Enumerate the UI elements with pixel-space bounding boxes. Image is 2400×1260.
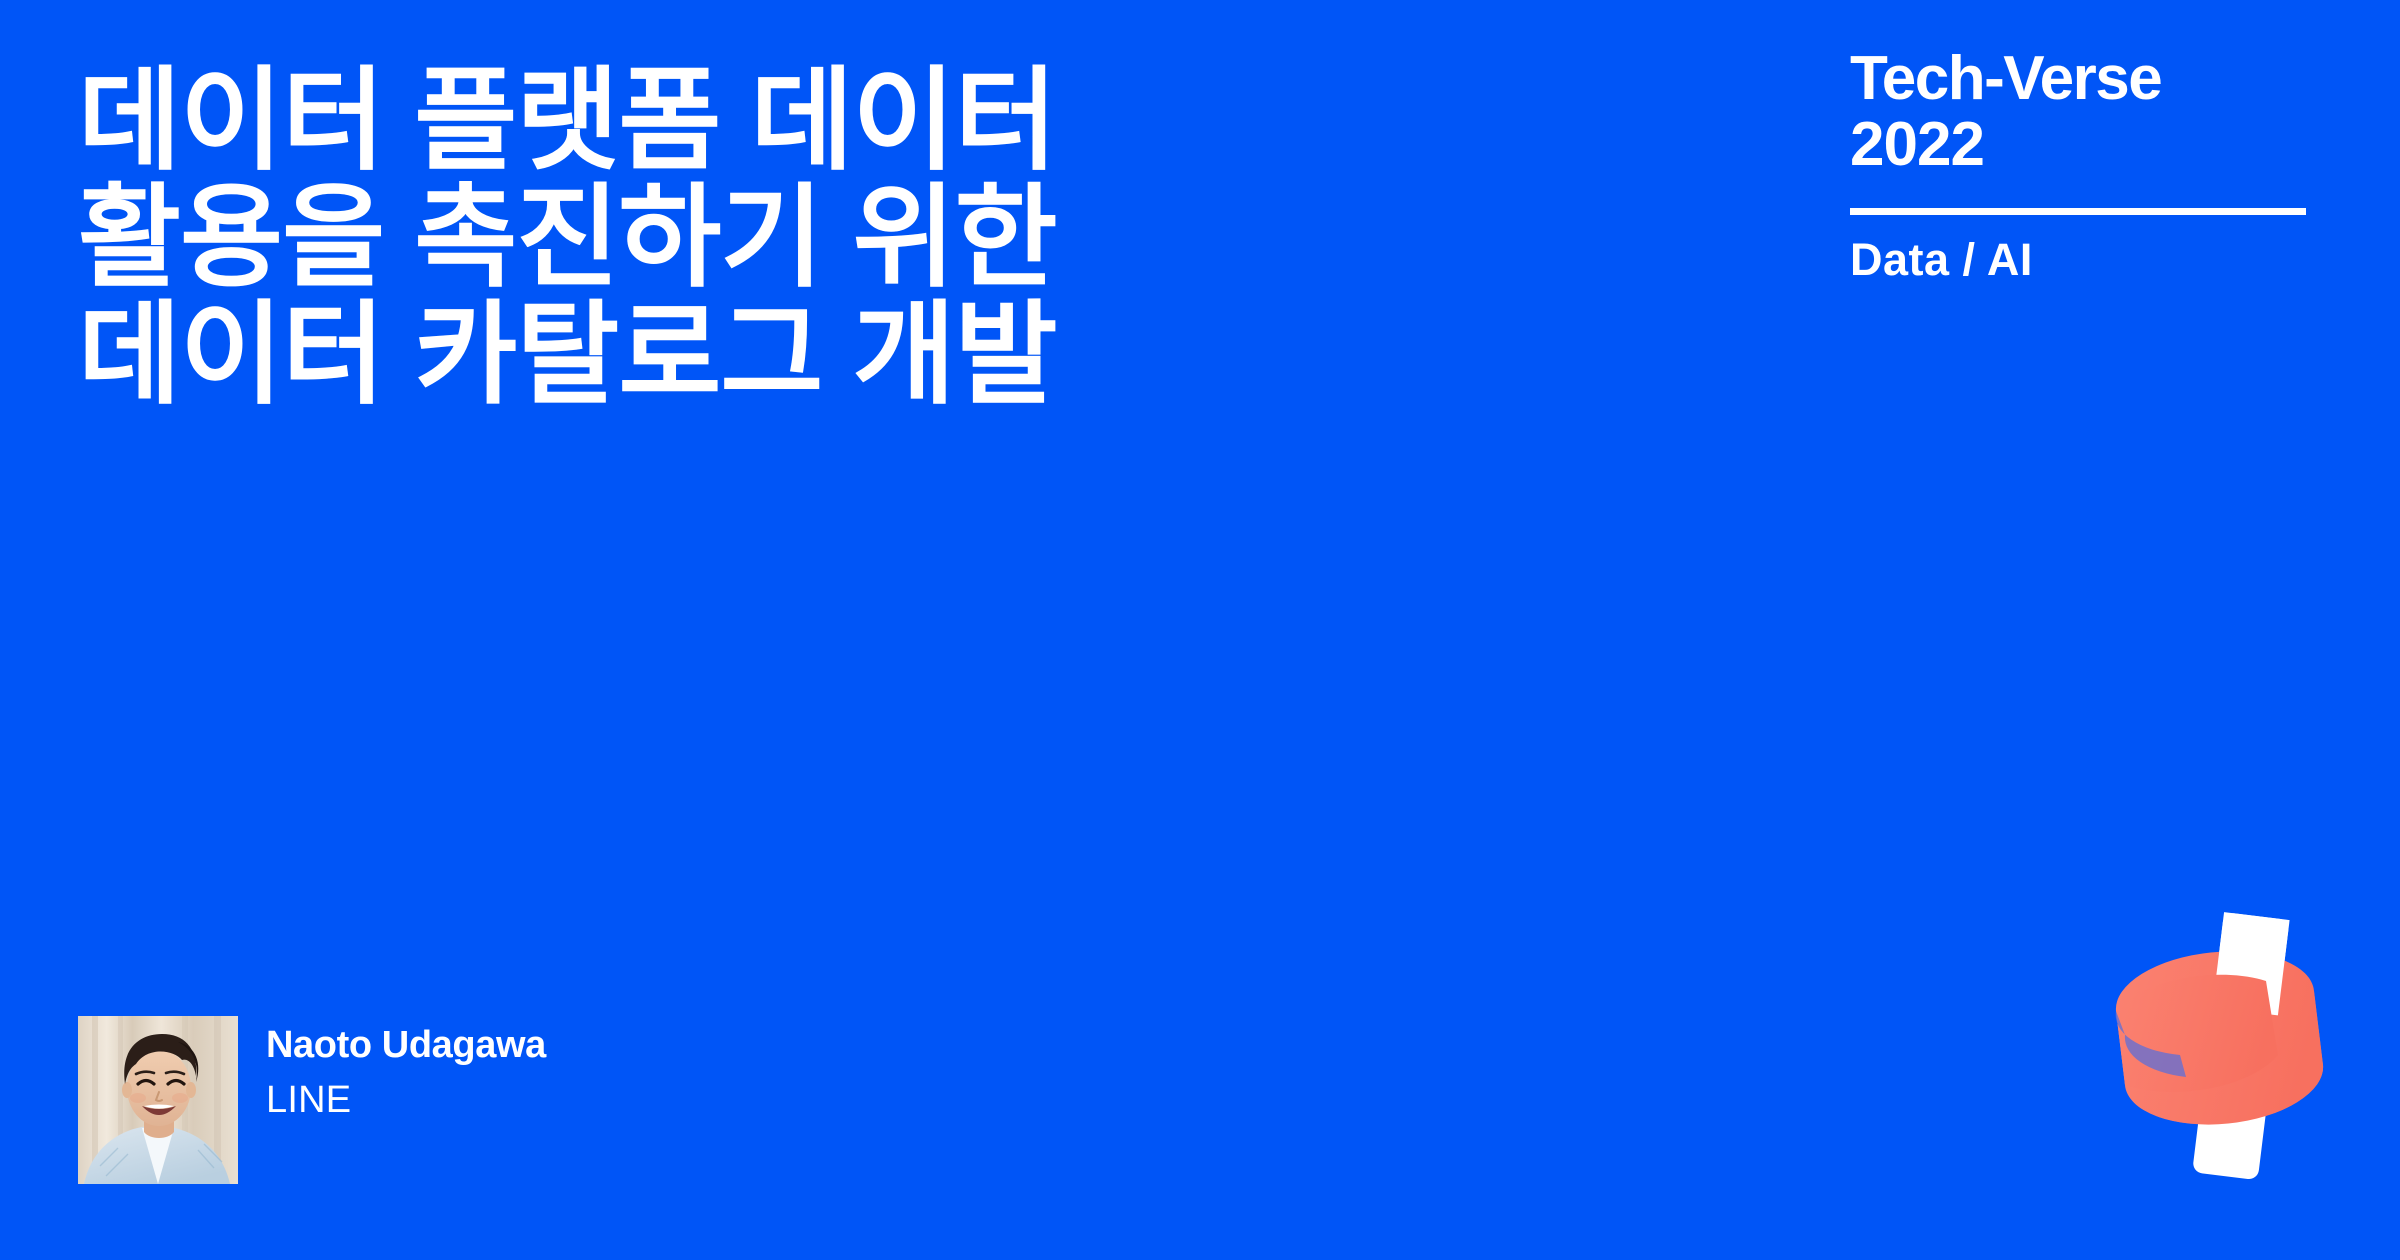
speaker-name: Naoto Udagawa [266, 1022, 546, 1068]
speaker-text: Naoto Udagawa LINE [266, 1016, 546, 1124]
title-line-2: 활용을 촉진하기 위한 [78, 179, 1498, 296]
speaker-info: Naoto Udagawa LINE [78, 1016, 546, 1184]
avatar [78, 1016, 238, 1184]
event-track: Data / AI [1850, 234, 2320, 286]
event-brand: Tech-Verse 2022 Data / AI [1850, 46, 2320, 286]
speaker-organization: LINE [266, 1076, 546, 1124]
slide-root: 데이터 플랫폼 데이터 활용을 촉진하기 위한 데이터 카탈로그 개발 Tech… [0, 0, 2400, 1260]
event-name: Tech-Verse [1850, 46, 2320, 112]
tech-verse-logo-icon [2090, 885, 2390, 1205]
brand-divider [1850, 208, 2306, 215]
event-year: 2022 [1850, 112, 2320, 178]
page-title: 데이터 플랫폼 데이터 활용을 촉진하기 위한 데이터 카탈로그 개발 [78, 62, 1498, 413]
title-line-1: 데이터 플랫폼 데이터 [78, 62, 1498, 179]
title-line-3: 데이터 카탈로그 개발 [78, 296, 1498, 413]
